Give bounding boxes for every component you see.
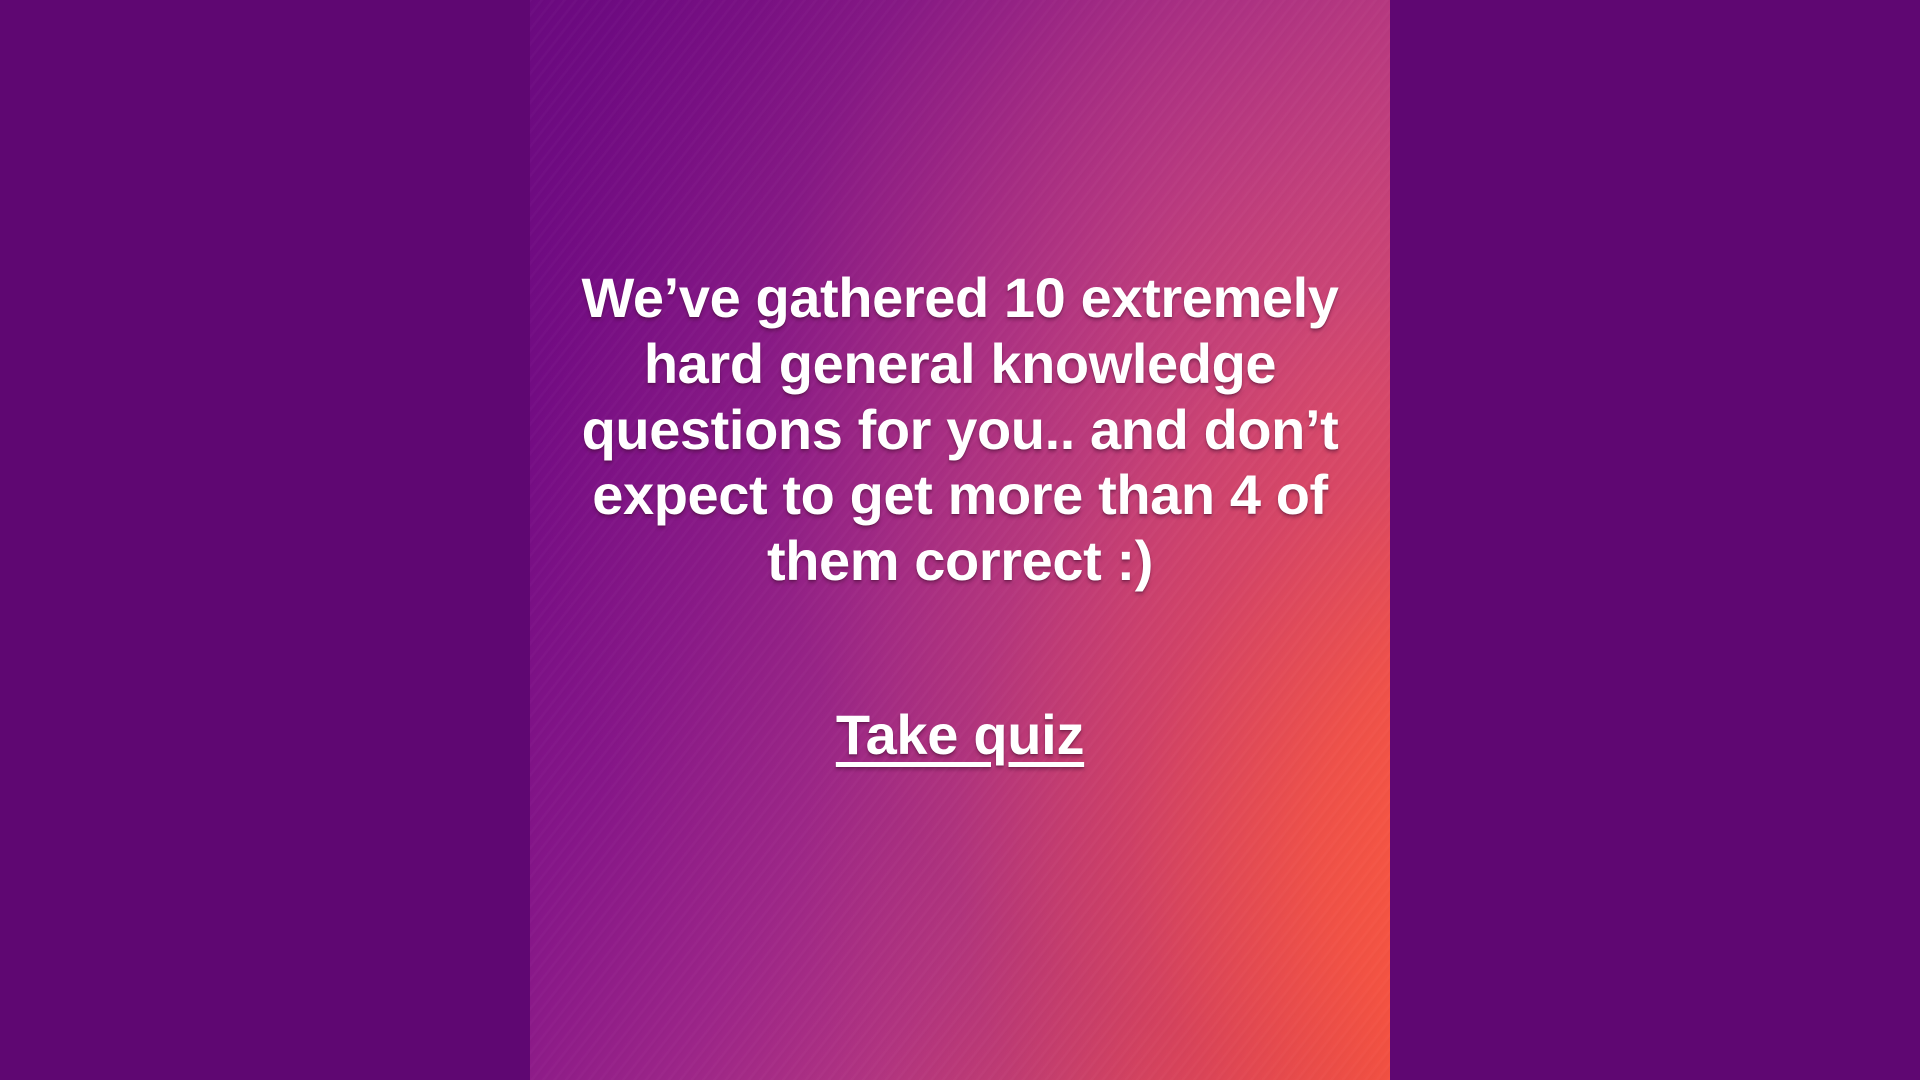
letterbox-bar-right xyxy=(1390,0,1920,1080)
take-quiz-link[interactable]: Take quiz xyxy=(836,702,1084,767)
story-canvas: We’ve gathered 10 extremely hard general… xyxy=(0,0,1920,1080)
letterbox-bar-left xyxy=(0,0,530,1080)
cta-container: Take quiz xyxy=(532,702,1388,767)
page-title: We’ve gathered 10 extremely hard general… xyxy=(532,265,1388,594)
story-content: We’ve gathered 10 extremely hard general… xyxy=(528,0,1392,1080)
